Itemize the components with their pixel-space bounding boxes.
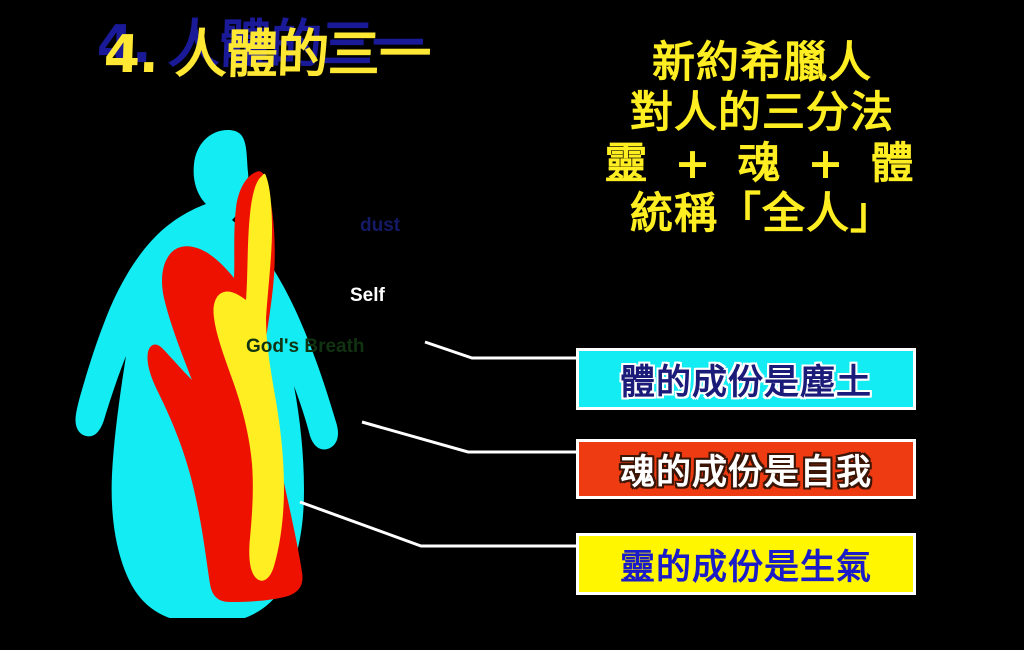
figure-label-self: Self xyxy=(350,285,385,307)
heading-line-1: 新約希臘人 xyxy=(552,38,972,88)
heading-block: 新約希臘人 對人的三分法 靈 + 魂 + 體 統稱「全人」 xyxy=(552,38,972,239)
heading-line-3: 靈 + 魂 + 體 xyxy=(552,139,972,189)
callout-soul-self[interactable]: 魂的成份是自我 xyxy=(576,439,916,499)
heading-line-2: 對人的三分法 xyxy=(552,88,972,138)
figure-label-gods-breath: God's Breath xyxy=(246,336,365,358)
callout-body-dust[interactable]: 體的成份是塵土 xyxy=(576,348,916,410)
figure-label-dust: dust xyxy=(360,215,400,237)
page-title: 4. 人體的三一 4. 人體的三一 xyxy=(104,28,544,108)
slide-canvas: 4. 人體的三一 4. 人體的三一 新約希臘人 對人的三分法 靈 + 魂 + 體… xyxy=(0,0,1024,650)
human-trichotomy-figure xyxy=(60,118,480,618)
callout-spirit-breath[interactable]: 靈的成份是生氣 xyxy=(576,533,916,595)
page-title-text: 4. 人體的三一 xyxy=(103,28,545,83)
heading-line-4: 統稱「全人」 xyxy=(552,189,972,239)
